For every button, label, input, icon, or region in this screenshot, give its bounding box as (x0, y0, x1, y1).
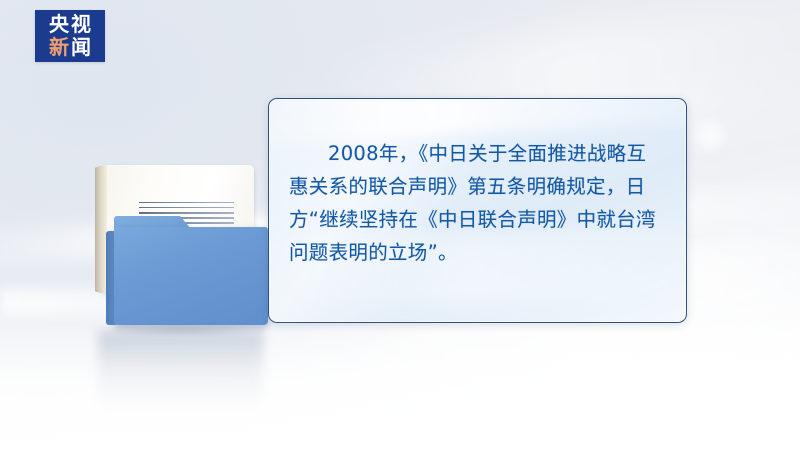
screenshot-stage: 央 视 新 闻 2008年， (0, 0, 800, 450)
logo-char-yang: 央 (49, 15, 69, 35)
statement-text: 2008年，《中日关于全面推进战略互惠关系的联合声明》第五条明确规定，日方“继续… (269, 99, 686, 269)
logo-char-shi: 视 (71, 15, 91, 35)
statement-panel: 2008年，《中日关于全面推进战略互惠关系的联合声明》第五条明确规定，日方“继续… (268, 98, 687, 323)
logo-line-2: 新 闻 (49, 38, 91, 58)
document-line (139, 212, 234, 213)
logo-line-1: 央 视 (49, 15, 91, 35)
document-line (139, 202, 234, 203)
logo-char-xin: 新 (49, 38, 69, 58)
folder-reflection (98, 332, 263, 410)
folder-front-panel (114, 227, 268, 325)
background-glow-dot (690, 116, 730, 156)
cctv-news-logo: 央 视 新 闻 (35, 10, 105, 62)
document-line (139, 207, 234, 208)
document-folder-icon (88, 165, 268, 330)
logo-char-wen: 闻 (71, 38, 91, 58)
